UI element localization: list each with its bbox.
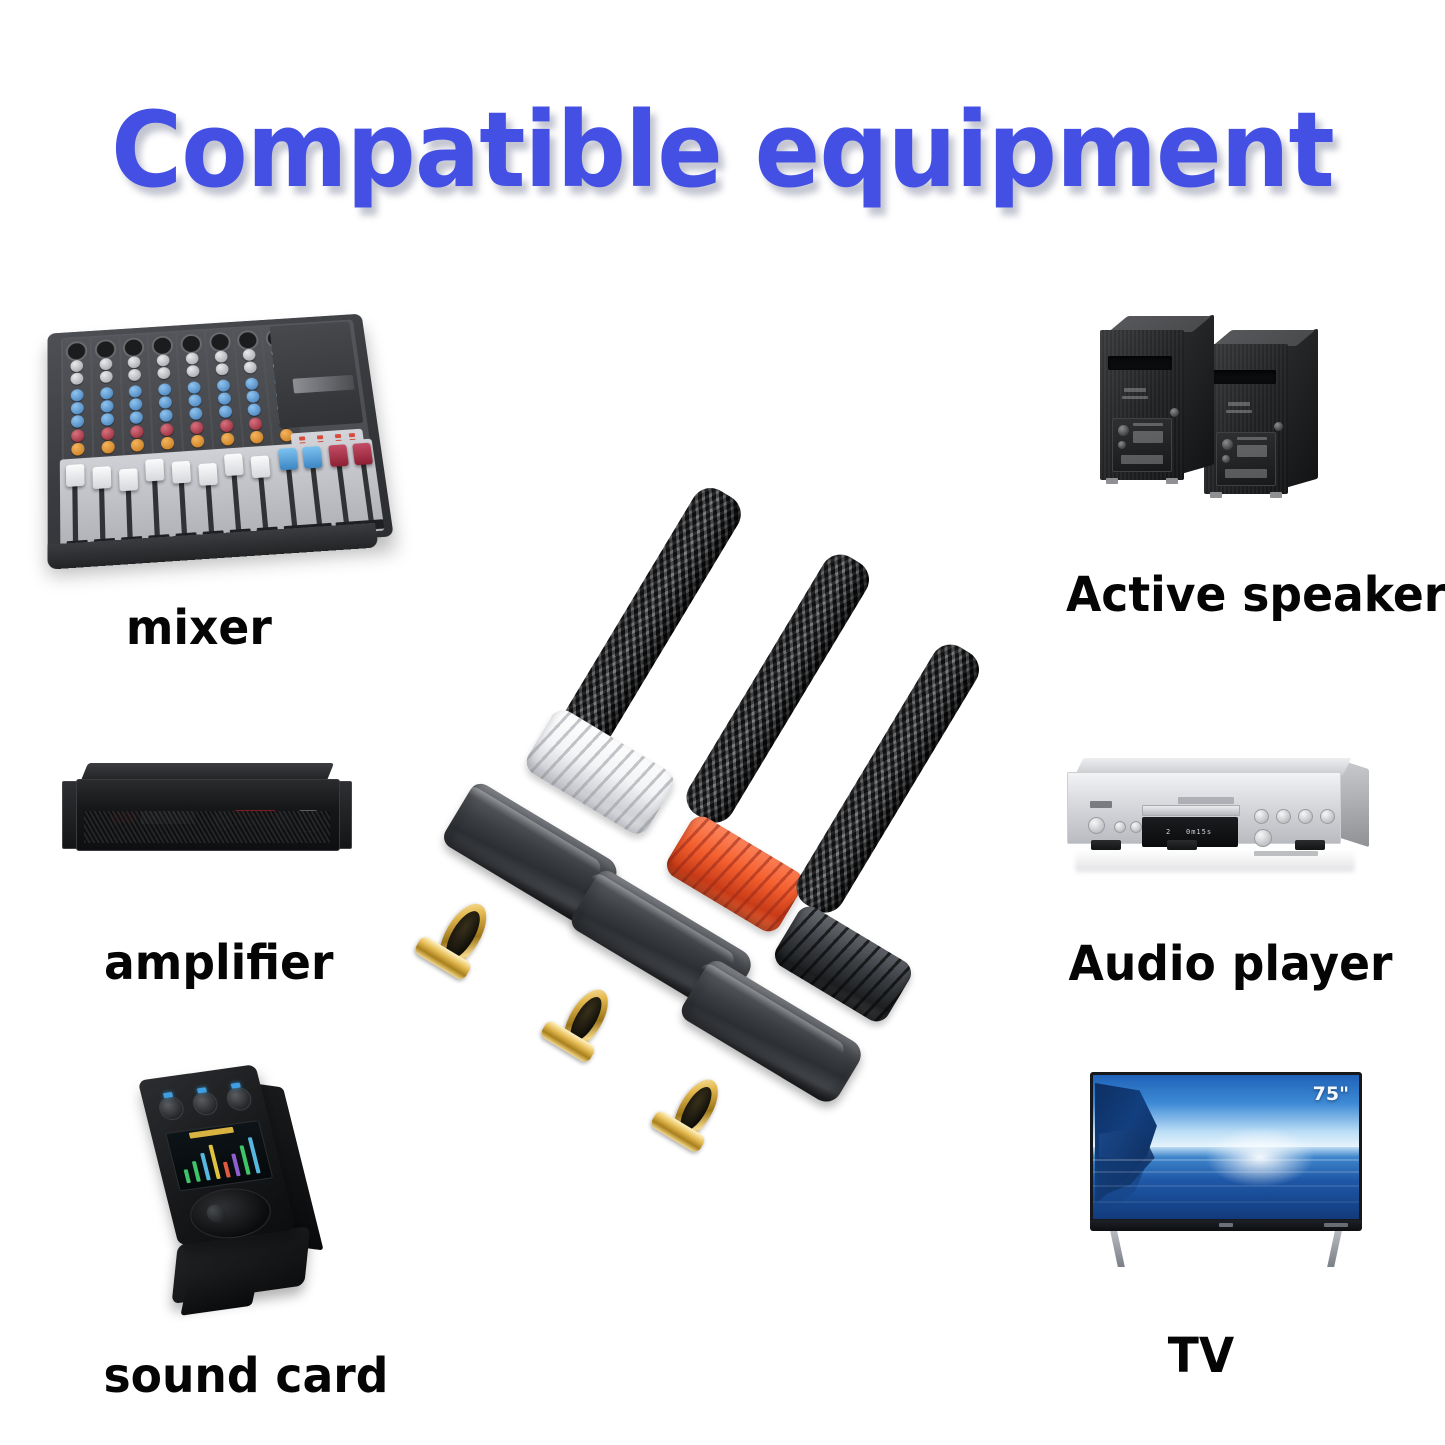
mixer-knob <box>71 429 84 442</box>
mixer-knob <box>218 405 232 418</box>
mixer-icon <box>42 305 387 560</box>
mixer-knob <box>219 419 233 432</box>
mixer-knob <box>71 415 84 428</box>
speaker-icon <box>1092 330 1322 510</box>
active-speaker-label: Active speaker <box>1066 567 1445 623</box>
mixer-main-fader <box>328 444 349 467</box>
mixer-knob <box>185 352 198 364</box>
sound-card-level-bar <box>200 1153 211 1181</box>
mixer-knob <box>161 436 175 449</box>
mixer-knob <box>220 432 234 445</box>
mixer-knob <box>70 360 83 373</box>
mixer-knob <box>129 398 142 411</box>
mixer-knob <box>100 413 113 426</box>
mixer-knob <box>99 371 112 384</box>
mixer-knob <box>128 369 141 382</box>
sound-card-level-bar <box>248 1137 261 1173</box>
mixer-knob <box>243 349 257 361</box>
mixer-label: mixer <box>126 600 272 656</box>
mixer-knob <box>158 383 171 396</box>
sound-card-level-bar <box>231 1153 241 1176</box>
xlr-input <box>151 335 173 356</box>
mixer-knob <box>70 372 83 385</box>
mixer-channel-fader <box>172 461 192 484</box>
mixer-main-fader <box>352 443 373 466</box>
mixer-knob <box>214 350 227 362</box>
mixer-knob <box>159 396 172 409</box>
mixer-sub-fader <box>278 448 298 471</box>
mixer-knob <box>191 434 205 447</box>
mixer-knob <box>71 442 84 455</box>
mixer-knob <box>160 423 174 436</box>
mixer-knob <box>188 394 202 407</box>
mixer-knob <box>71 402 84 415</box>
mixer-knob <box>101 427 114 440</box>
mixer-channel-fader <box>119 468 138 491</box>
tv-label: TV <box>1168 1328 1234 1384</box>
sound-card-level-bar <box>208 1145 220 1180</box>
mixer-led <box>317 435 323 439</box>
mixer-channel-fader <box>66 464 85 487</box>
mixer-fader-slot <box>336 458 349 525</box>
mixer-knob <box>245 377 259 390</box>
xlr-input <box>123 337 145 358</box>
audio-player-track-number: 2 <box>1166 828 1171 836</box>
mixer-knob <box>189 407 203 420</box>
mixer-knob <box>157 367 170 380</box>
mixer-knob <box>131 425 145 438</box>
mixer-knob <box>130 411 143 424</box>
tv-size-badge: 75" <box>1313 1083 1349 1105</box>
audio-player-icon: 2 0m15s <box>1055 752 1375 882</box>
mixer-knob <box>128 356 141 368</box>
mixer-knob <box>216 379 230 392</box>
mixer-channel-fader <box>145 459 164 482</box>
mixer-fader-slot <box>360 457 374 524</box>
mixer-knob <box>248 403 262 416</box>
mixer-knob <box>99 358 112 371</box>
mixer-knob <box>101 440 114 453</box>
tv-icon: 75" <box>1090 1072 1362 1272</box>
mixer-knob <box>246 390 260 403</box>
amplifier-icon <box>62 755 352 875</box>
mixer-knob <box>250 431 264 444</box>
xlr-input <box>237 330 260 351</box>
amplifier-label: amplifier <box>104 935 333 991</box>
xlr-input <box>94 339 116 360</box>
mixer-channel-fader <box>250 455 270 478</box>
audio-player-display: 0m15s <box>1186 828 1212 836</box>
mixer-sub-fader <box>302 446 323 469</box>
mixer-knob <box>244 361 258 374</box>
mixer-channel-fader <box>198 463 218 486</box>
mixer-knob <box>159 409 173 422</box>
sound-card-level-bar <box>192 1161 201 1182</box>
mixer-channel-fader <box>92 466 111 489</box>
xlr-input <box>180 334 202 355</box>
mixer-fader-slot <box>310 460 323 527</box>
mixer-knob <box>215 363 229 376</box>
xlr-input <box>66 341 88 362</box>
xlr-input <box>208 332 231 353</box>
page-title: Compatible equipment <box>51 96 1395 205</box>
mixer-led <box>349 433 355 437</box>
sound-card-level-bar <box>239 1145 250 1175</box>
mixer-knob <box>217 392 231 405</box>
mixer-knob <box>157 354 170 366</box>
mixer-knob <box>71 389 84 402</box>
mixer-knob <box>249 417 263 430</box>
mixer-knob <box>187 381 201 394</box>
mixer-knob <box>129 385 142 398</box>
audio-player-label: Audio player <box>1069 936 1393 992</box>
mixer-knob <box>190 421 204 434</box>
mixer-fader-slot <box>285 462 297 529</box>
mixer-knob <box>131 438 145 451</box>
mixer-knob <box>100 387 113 400</box>
mixer-knob <box>186 365 199 378</box>
mixer-led <box>299 436 305 440</box>
mixer-channel-fader <box>224 453 244 476</box>
mixer-led <box>335 434 341 438</box>
mixer-knob <box>100 400 113 413</box>
rca-cable-assembly <box>400 500 1020 1260</box>
sound-card-level-bar <box>184 1169 191 1183</box>
sound-card-label: sound card <box>103 1348 388 1404</box>
sound-card-icon <box>130 1060 350 1310</box>
sound-card-level-bar <box>223 1162 231 1178</box>
